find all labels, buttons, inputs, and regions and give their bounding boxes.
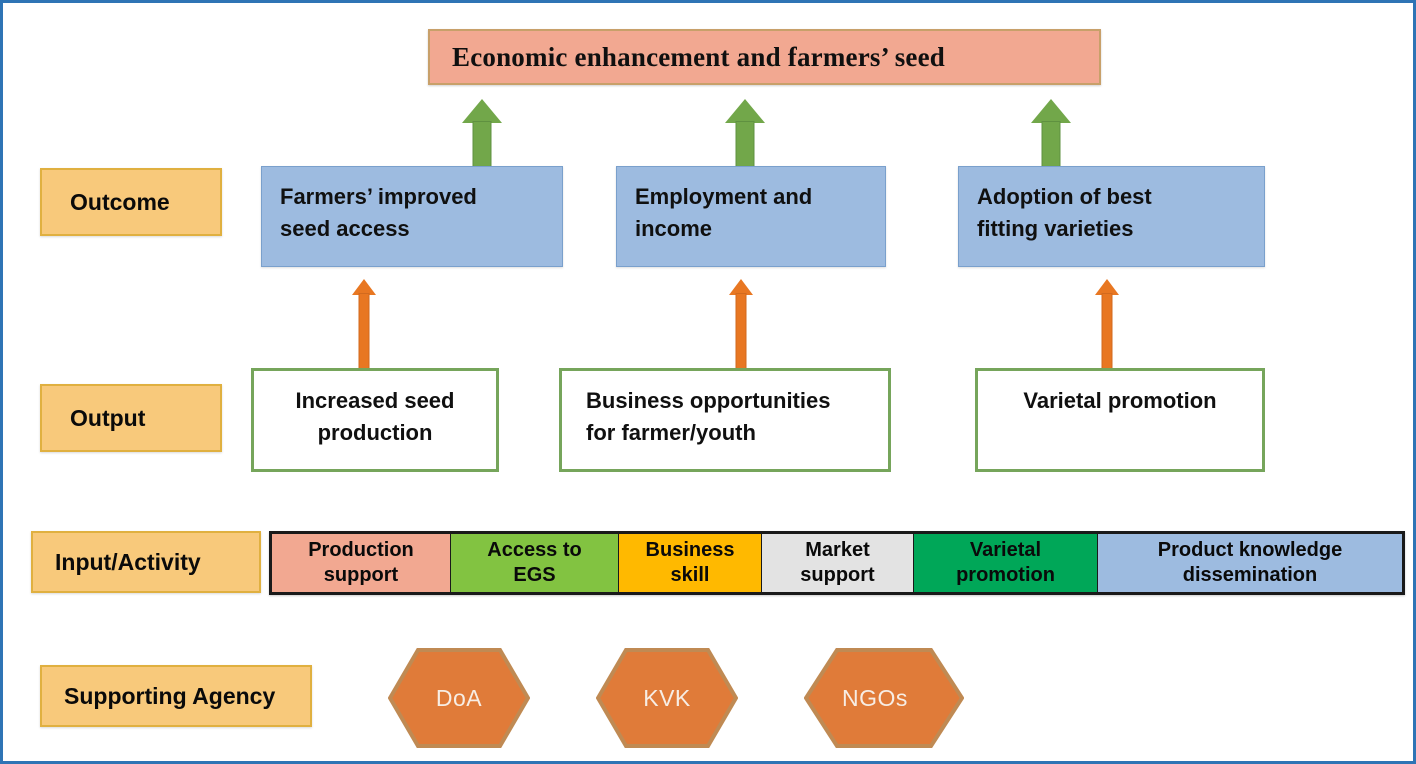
output-box-3-line1: Varietal promotion [978,385,1262,417]
row-label-outcome: Outcome [40,168,222,236]
row-label-input-activity-text: Input/Activity [55,549,201,576]
outcome-box-1-line2: seed access [280,216,410,241]
input-segment-2-line1: Access to [487,539,582,561]
input-segment-4-line2: support [800,564,874,586]
output-box-2-line2: for farmer/youth [586,417,888,449]
input-segment-1-line2: support [324,564,398,586]
output-box-3: Varietal promotion [975,368,1265,472]
agency-hexagon-doa: DoA [388,648,530,748]
output-box-2-line1: Business opportunities [586,385,888,417]
agency-hexagon-kvk: KVK [596,648,738,748]
input-segment-2-line2: EGS [513,564,555,586]
input-segment-1-line1: Production [308,539,414,561]
row-label-supporting-agency: Supporting Agency [40,665,312,727]
agency-hexagon-ngos: NGOs [804,648,946,748]
input-segment-6-line1: Product knowledge [1158,539,1342,561]
input-segment-product-knowledge-dissemination: Product knowledge dissemination [1098,534,1402,592]
agency-hexagon-kvk-label: KVK [643,685,691,712]
input-segment-production-support: Production support [272,534,451,592]
outcome-box-3-line2: fitting varieties [977,216,1133,241]
output-box-1: Increased seed production [251,368,499,472]
agency-hexagon-ngos-label: NGOs [842,685,908,712]
input-segment-5-line2: promotion [956,564,1055,586]
outcome-box-1: Farmers’ improved seed access [261,166,563,267]
goal-box: Economic enhancement and farmers’ seed [428,29,1101,85]
outcome-box-2-line1: Employment and [635,184,812,209]
input-activity-bar: Production support Access to EGS Busines… [269,531,1405,595]
outcome-box-1-line1: Farmers’ improved [280,184,477,209]
input-segment-3-line1: Business [646,539,735,561]
input-segment-access-to-egs: Access to EGS [451,534,619,592]
row-label-supporting-agency-text: Supporting Agency [64,683,275,710]
input-segment-4-line1: Market [805,539,869,561]
input-segment-6-line2: dissemination [1183,564,1317,586]
goal-text: Economic enhancement and farmers’ seed [452,42,945,73]
input-segment-3-line2: skill [671,564,710,586]
agency-hexagon-doa-label: DoA [436,685,482,712]
row-label-output: Output [40,384,222,452]
output-box-1-line2: production [254,417,496,449]
row-label-input-activity: Input/Activity [31,531,261,593]
arrow-output2-to-outcome2 [729,279,753,369]
outcome-box-2: Employment and income [616,166,886,267]
row-label-output-text: Output [70,405,145,432]
outcome-box-3-line1: Adoption of best [977,184,1152,209]
outcome-box-2-line2: income [635,216,712,241]
arrow-outcome2-to-goal [725,99,765,167]
input-segment-varietal-promotion: Varietal promotion [914,534,1098,592]
arrow-outcome1-to-goal [462,99,502,167]
input-segment-5-line1: Varietal [970,539,1041,561]
input-segment-business-skill: Business skill [619,534,762,592]
arrow-output1-to-outcome1 [352,279,376,369]
arrow-output3-to-outcome3 [1095,279,1119,369]
arrow-outcome3-to-goal [1031,99,1071,167]
diagram-canvas: Economic enhancement and farmers’ seed O… [0,0,1416,764]
row-label-outcome-text: Outcome [70,189,170,216]
output-box-2: Business opportunities for farmer/youth [559,368,891,472]
output-box-1-line1: Increased seed [254,385,496,417]
input-segment-market-support: Market support [762,534,914,592]
outcome-box-3: Adoption of best fitting varieties [958,166,1265,267]
